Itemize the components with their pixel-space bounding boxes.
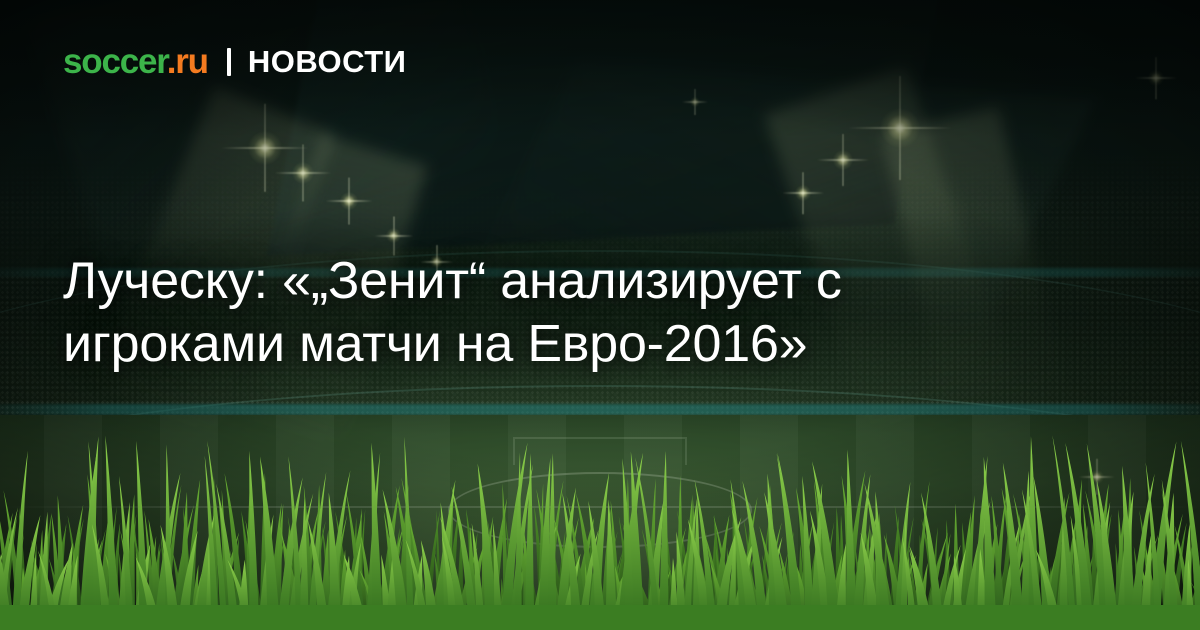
logo-tld-text: .ru bbox=[167, 42, 208, 81]
page-title: Луческу: «„Зенит“ анализирует с игроками… bbox=[63, 250, 1023, 376]
site-logo[interactable]: soccer.ru bbox=[63, 44, 208, 79]
section-label: НОВОСТИ bbox=[248, 46, 407, 77]
news-share-card: soccer.ru НОВОСТИ Луческу: «„Зенит“ анал… bbox=[0, 0, 1200, 630]
logo-name-text: soccer bbox=[63, 42, 167, 81]
header-separator bbox=[227, 48, 231, 76]
brand-header: soccer.ru НОВОСТИ bbox=[63, 44, 406, 79]
